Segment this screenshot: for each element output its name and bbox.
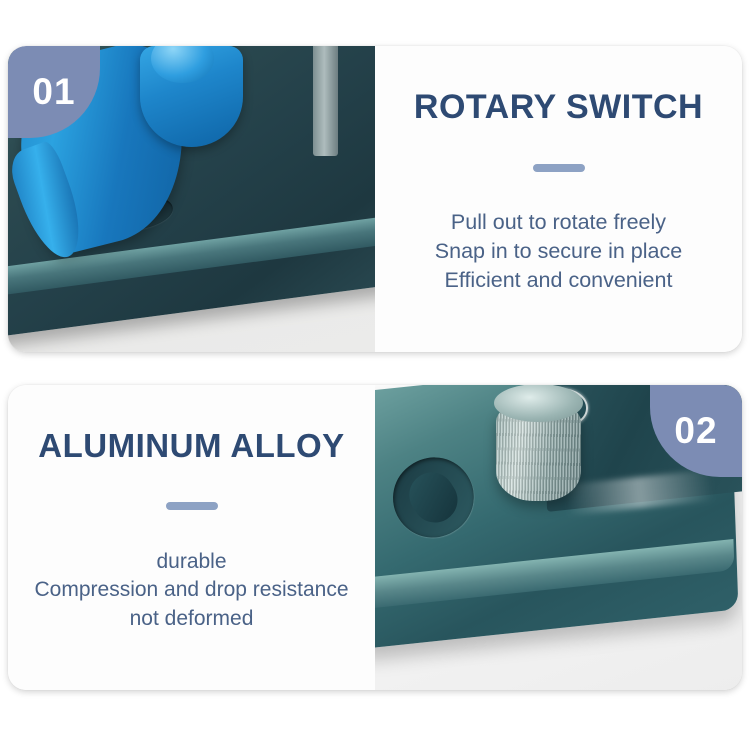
step-badge-01-number: 01 (32, 71, 75, 113)
feature-title-aluminum-alloy: ALUMINUM ALLOY (38, 429, 344, 462)
product-rear-post-right (313, 46, 339, 156)
feature-card-aluminum-alloy: ALUMINUM ALLOY durable Compression and d… (8, 385, 742, 690)
product-photo-rotary-switch: 01 (8, 46, 375, 352)
title-divider-bar (533, 164, 585, 172)
feature-card-rotary-switch: 01 ROTARY SWITCH Pull out to rotate free… (8, 46, 742, 352)
feature-description-aluminum-alloy: durable Compression and drop resistance … (35, 548, 349, 633)
product-knob-top-face (494, 385, 583, 422)
feature-description-rotary-switch: Pull out to rotate freely Snap in to sec… (435, 208, 682, 295)
description-line: Efficient and convenient (435, 266, 682, 295)
description-line: durable (35, 548, 349, 576)
feature-title-rotary-switch: ROTARY SWITCH (414, 90, 703, 124)
description-line: Snap in to secure in place (435, 237, 682, 266)
feature-text-rotary-switch: ROTARY SWITCH Pull out to rotate freely … (375, 46, 742, 352)
feature-text-aluminum-alloy: ALUMINUM ALLOY durable Compression and d… (8, 385, 375, 690)
product-slot-inner (401, 464, 466, 531)
description-line: Compression and drop resistance (35, 576, 349, 604)
description-line: Pull out to rotate freely (435, 208, 682, 237)
step-badge-02-number: 02 (674, 410, 717, 452)
title-divider-bar (166, 502, 218, 510)
description-line: not deformed (35, 605, 349, 633)
product-photo-aluminum-alloy: 02 (375, 385, 742, 690)
